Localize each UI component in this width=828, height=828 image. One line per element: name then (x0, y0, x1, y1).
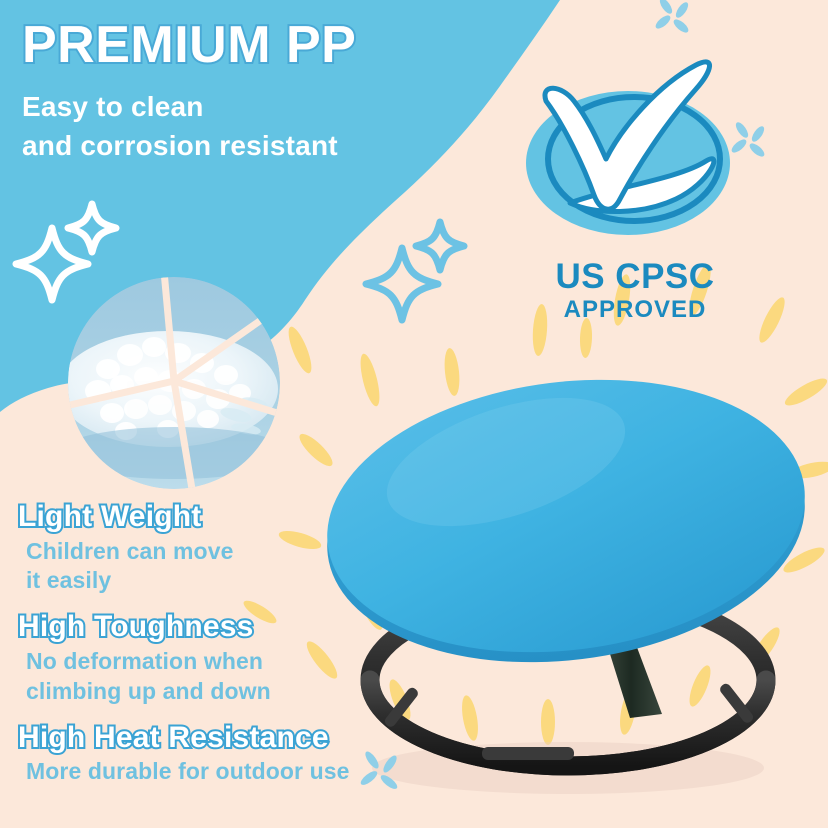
pp-pellets-photo (68, 277, 280, 489)
feature-desc-line: Children can move (26, 537, 438, 567)
product-feature-poster: PREMIUM PP Easy to clean and corrosion r… (0, 0, 828, 828)
feature-item-high-toughness: High Toughness No deformation when climb… (18, 610, 438, 706)
feature-item-high-heat-resistance: High Heat Resistance More durable for ou… (18, 721, 438, 787)
badge-name: US CPSC (495, 259, 775, 294)
feature-title: High Heat Resistance (18, 721, 438, 755)
status-badge: APPROVED (495, 296, 775, 325)
feature-desc-line: it easily (26, 566, 438, 596)
feature-item-light-weight: Light Weight Children can move it easily (18, 500, 438, 596)
feature-description: No deformation when climbing up and down (18, 647, 438, 707)
feature-desc-line: climbing up and down (26, 677, 438, 707)
pp-pellets-inset (68, 277, 280, 489)
cpsc-badge: US CPSC APPROVED (495, 55, 775, 325)
feature-list: Light Weight Children can move it easily… (18, 500, 438, 801)
feature-description: Children can move it easily (18, 537, 438, 597)
feature-title: High Toughness (18, 610, 438, 644)
feature-title: Light Weight (18, 500, 438, 534)
feature-description: More durable for outdoor use (18, 757, 438, 787)
feature-desc-line: More durable for outdoor use (26, 757, 438, 787)
feature-desc-line: No deformation when (26, 647, 438, 677)
check-swoosh-icon (510, 55, 760, 255)
